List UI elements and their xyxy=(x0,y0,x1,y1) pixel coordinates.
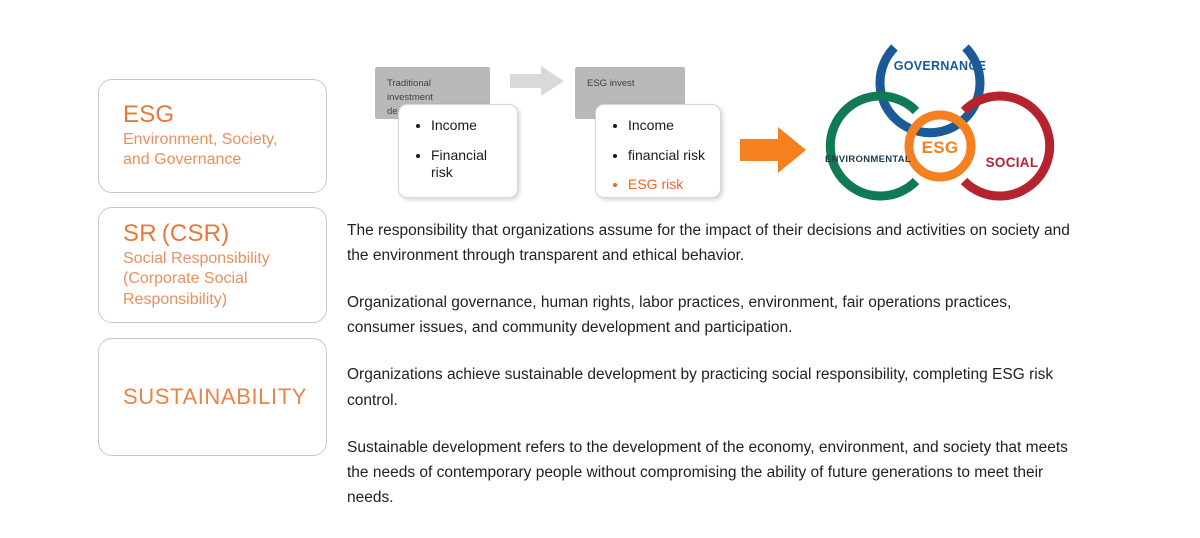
ring-social xyxy=(964,96,1050,196)
description-paragraphs: The responsibility that organizations as… xyxy=(347,218,1081,510)
esg-ring-diagram: GOVERNANCE ENVIRONMENTAL SOCIAL ESG xyxy=(800,14,1080,214)
list-item: ESG risk xyxy=(610,176,706,194)
list-item: Income xyxy=(413,117,503,135)
ring-label-environmental: ENVIRONMENTAL xyxy=(825,154,911,165)
paragraph: Organizational governance, human rights,… xyxy=(347,290,1081,340)
list-item-label: Financial risk xyxy=(431,147,487,181)
definition-card-subtitle: Environment, Society, and Governance xyxy=(123,130,302,171)
paragraph: Sustainable development refers to the de… xyxy=(347,435,1081,510)
right-arrow-icon xyxy=(740,127,806,173)
ring-label-center-esg: ESG xyxy=(922,138,959,157)
definition-card-sustainability: SUSTAINABILITY xyxy=(98,338,327,456)
ring-label-social: SOCIAL xyxy=(986,155,1039,170)
definition-card-sr: SR (CSR) Social Responsibility (Corporat… xyxy=(98,207,327,323)
definition-card-subtitle: Social Responsibility (Corporate Social … xyxy=(123,249,302,310)
flow-list-esg-invest: Income financial risk ESG risk xyxy=(610,117,706,194)
flow-list-traditional: Income Financial risk xyxy=(413,117,503,182)
flow-card-traditional: Income Financial risk xyxy=(398,104,518,198)
paragraph: The responsibility that organizations as… xyxy=(347,218,1081,268)
list-item: Financial risk xyxy=(413,147,503,182)
flow-header-esg-invest-label: ESG invest xyxy=(587,78,635,89)
right-arrow-icon xyxy=(510,66,564,96)
definition-card-title: SR (CSR) xyxy=(123,220,302,248)
list-item-label: Income xyxy=(628,117,674,133)
paragraph: Organizations achieve sustainable develo… xyxy=(347,362,1081,412)
ring-environmental xyxy=(830,96,916,196)
definition-card-title: SUSTAINABILITY xyxy=(123,384,302,410)
page-root: ESG Environment, Society, and Governance… xyxy=(0,0,1200,538)
list-item: financial risk xyxy=(610,147,706,165)
ring-label-governance: GOVERNANCE xyxy=(894,59,987,73)
definition-card-esg: ESG Environment, Society, and Governance xyxy=(98,79,327,193)
list-item-label: financial risk xyxy=(628,147,705,163)
list-item: Income xyxy=(610,117,706,135)
list-item-label: ESG risk xyxy=(628,176,683,192)
list-item-label: Income xyxy=(431,117,477,133)
definition-card-title: ESG xyxy=(123,101,302,129)
flow-card-esg-invest: Income financial risk ESG risk xyxy=(595,104,721,198)
